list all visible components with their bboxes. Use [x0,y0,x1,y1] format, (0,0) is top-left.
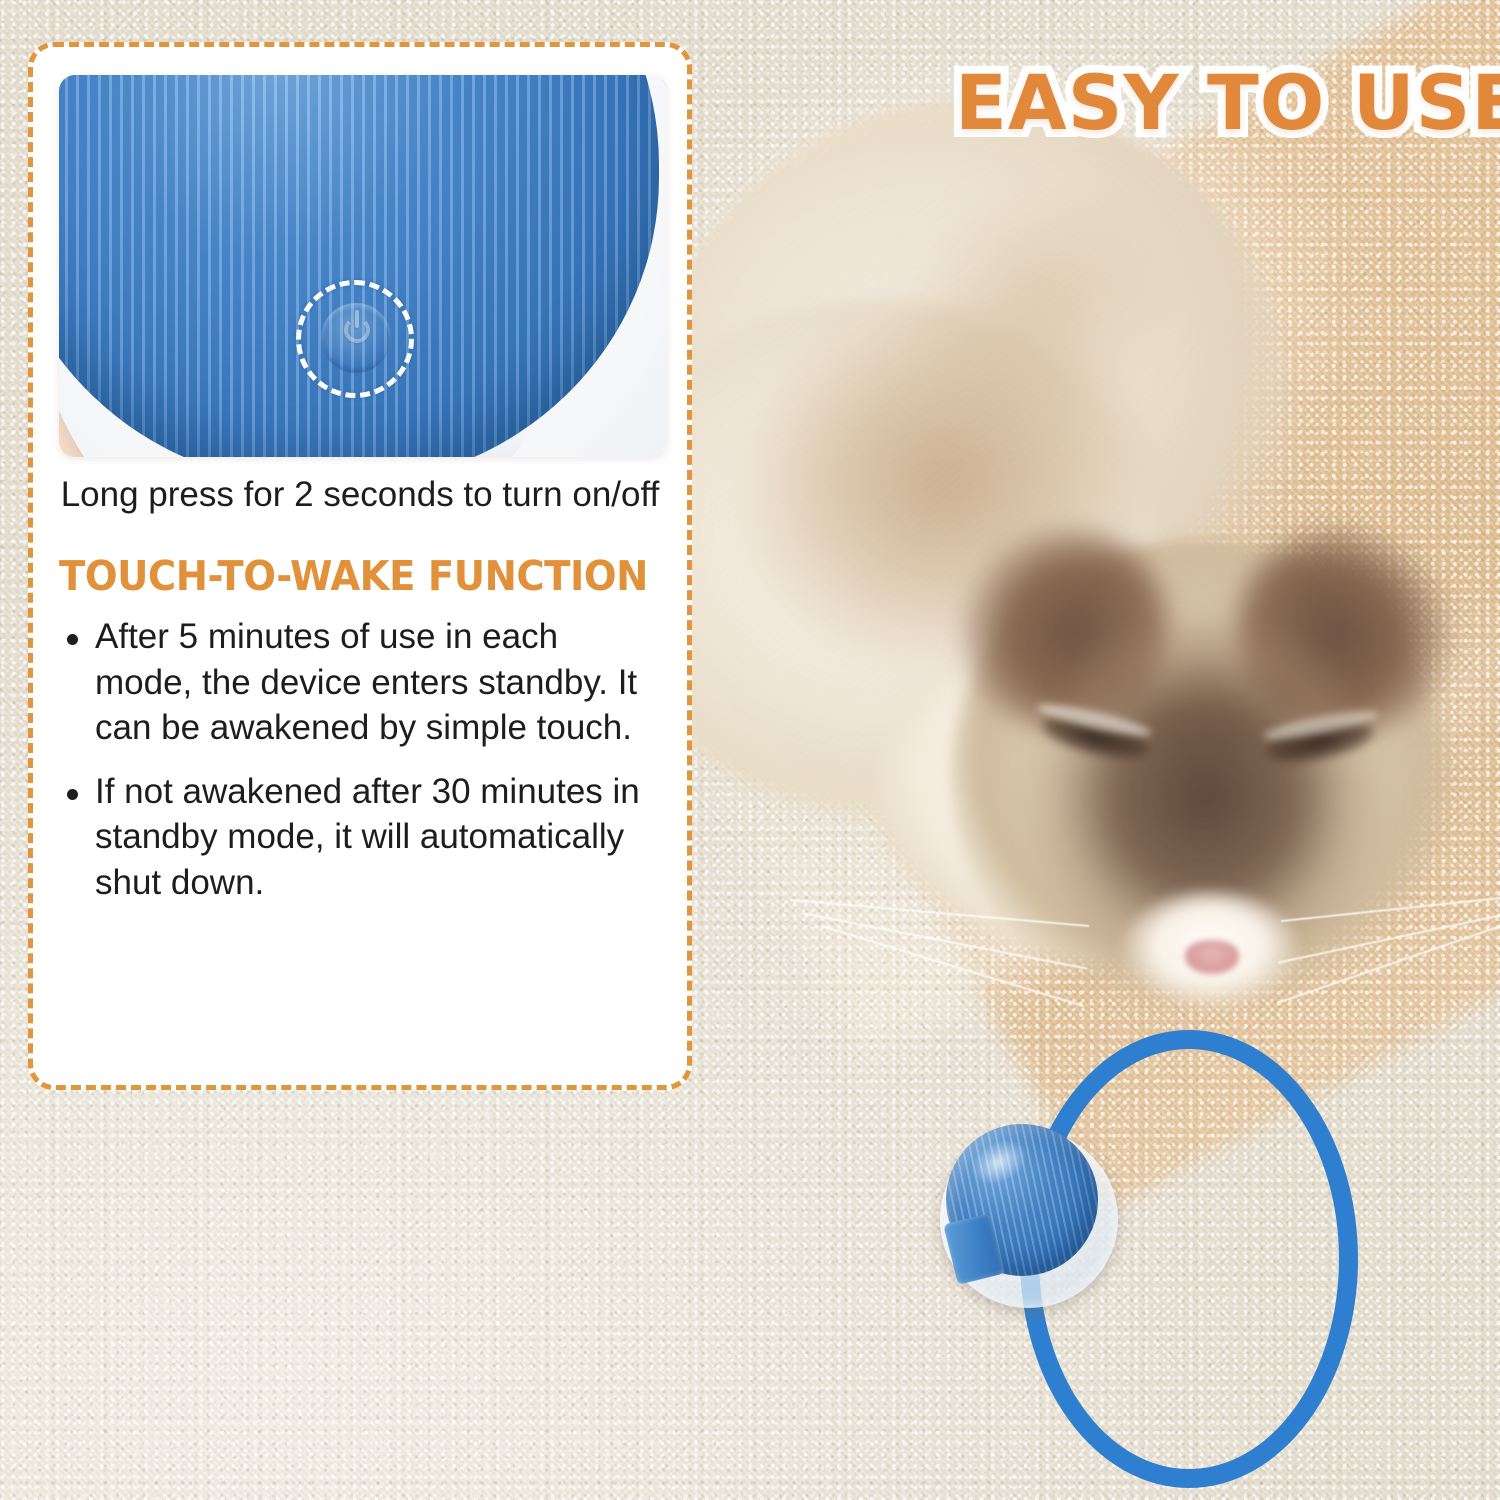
section-heading: TOUCH-TO-WAKE FUNCTION [59,552,625,600]
page-title: EASY TO USE [955,58,1500,147]
cat-photo-subject [640,60,1500,1020]
inset-caption: Long press for 2 seconds to turn on/off [59,473,661,516]
list-item: After 5 minutes of use in each mode, the… [59,614,661,751]
ball-toy-with-rope [900,1000,1500,1500]
list-item: If not awakened after 30 minutes in stan… [59,769,661,906]
cat-nose [1185,940,1239,974]
feature-bullet-list: After 5 minutes of use in each mode, the… [59,614,661,905]
power-button-highlight-circle-icon [296,280,414,398]
info-card: Long press for 2 seconds to turn on/off … [28,42,692,1090]
power-button-inset-photo [59,75,667,457]
